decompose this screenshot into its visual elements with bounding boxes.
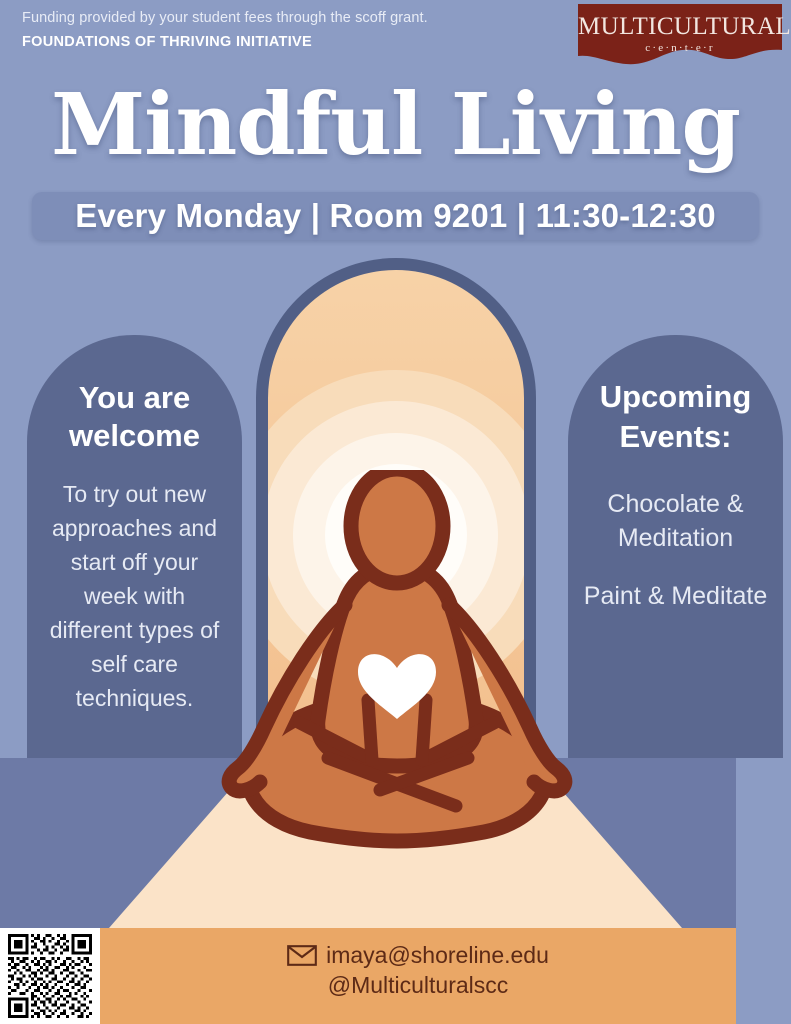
qr-code[interactable] (0, 928, 100, 1024)
envelope-icon (287, 945, 317, 966)
initiative-text: FOUNDATIONS OF THRIVING INITIATIVE (22, 34, 312, 50)
left-panel-heading: You are welcome (33, 379, 236, 455)
logo-wordmark: MULTICULTURAL (578, 13, 782, 41)
right-panel-heading: Upcoming Events: (574, 377, 777, 457)
meditating-person-illustration (182, 470, 612, 860)
poster-canvas: Funding provided by your student fees th… (0, 0, 791, 1024)
social-handle[interactable]: @Multiculturalscc (100, 970, 736, 1001)
schedule-bar: Every Monday | Room 9201 | 11:30-12:30 (32, 192, 759, 240)
email-text: imaya@shoreline.edu (326, 940, 549, 970)
poster-title: Mindful Living (0, 77, 791, 173)
email-row[interactable]: imaya@shoreline.edu (100, 940, 736, 970)
funding-text: Funding provided by your student fees th… (22, 10, 428, 26)
header: Funding provided by your student fees th… (0, 0, 791, 72)
logo-subword: c·e·n·t·e·r (578, 42, 782, 54)
multicultural-center-logo: MULTICULTURAL c·e·n·t·e·r (578, 4, 782, 66)
schedule-text: Every Monday | Room 9201 | 11:30-12:30 (75, 197, 716, 235)
contact-info: imaya@shoreline.edu @Multiculturalscc (100, 940, 736, 1001)
